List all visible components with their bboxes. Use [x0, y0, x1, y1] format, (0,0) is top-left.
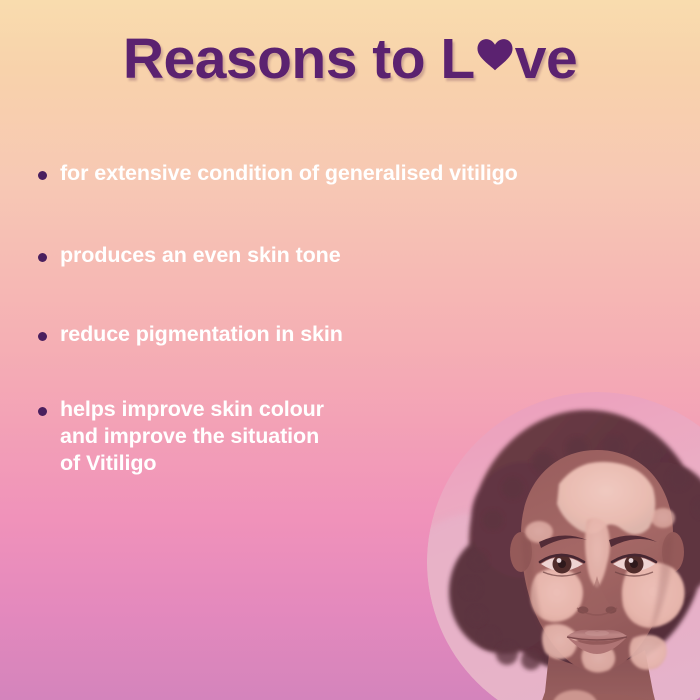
bullet-dot-icon	[38, 332, 47, 341]
bullet-dot-icon	[38, 171, 47, 180]
page-title: Reasons to L ve	[123, 26, 577, 92]
bullet-dot-icon	[38, 407, 47, 416]
list-item-label: for extensive condition of generalised v…	[60, 160, 518, 187]
title-block: Reasons to L ve	[0, 26, 700, 92]
list-item-label: produces an even skin tone	[60, 242, 341, 269]
bullet-dot-icon	[38, 253, 47, 262]
title-text-after-heart: ve	[515, 27, 577, 91]
list-item-label: helps improve skin colour and improve th…	[60, 396, 324, 477]
title-text-before-heart: Reasons to L	[123, 27, 475, 91]
list-item: produces an even skin tone	[38, 242, 638, 269]
list-item: for extensive condition of generalised v…	[38, 160, 638, 187]
list-item: reduce pigmentation in skin	[38, 321, 638, 348]
poster-canvas: Reasons to L ve for extensive condition …	[0, 0, 700, 700]
list-item-label: reduce pigmentation in skin	[60, 321, 343, 348]
